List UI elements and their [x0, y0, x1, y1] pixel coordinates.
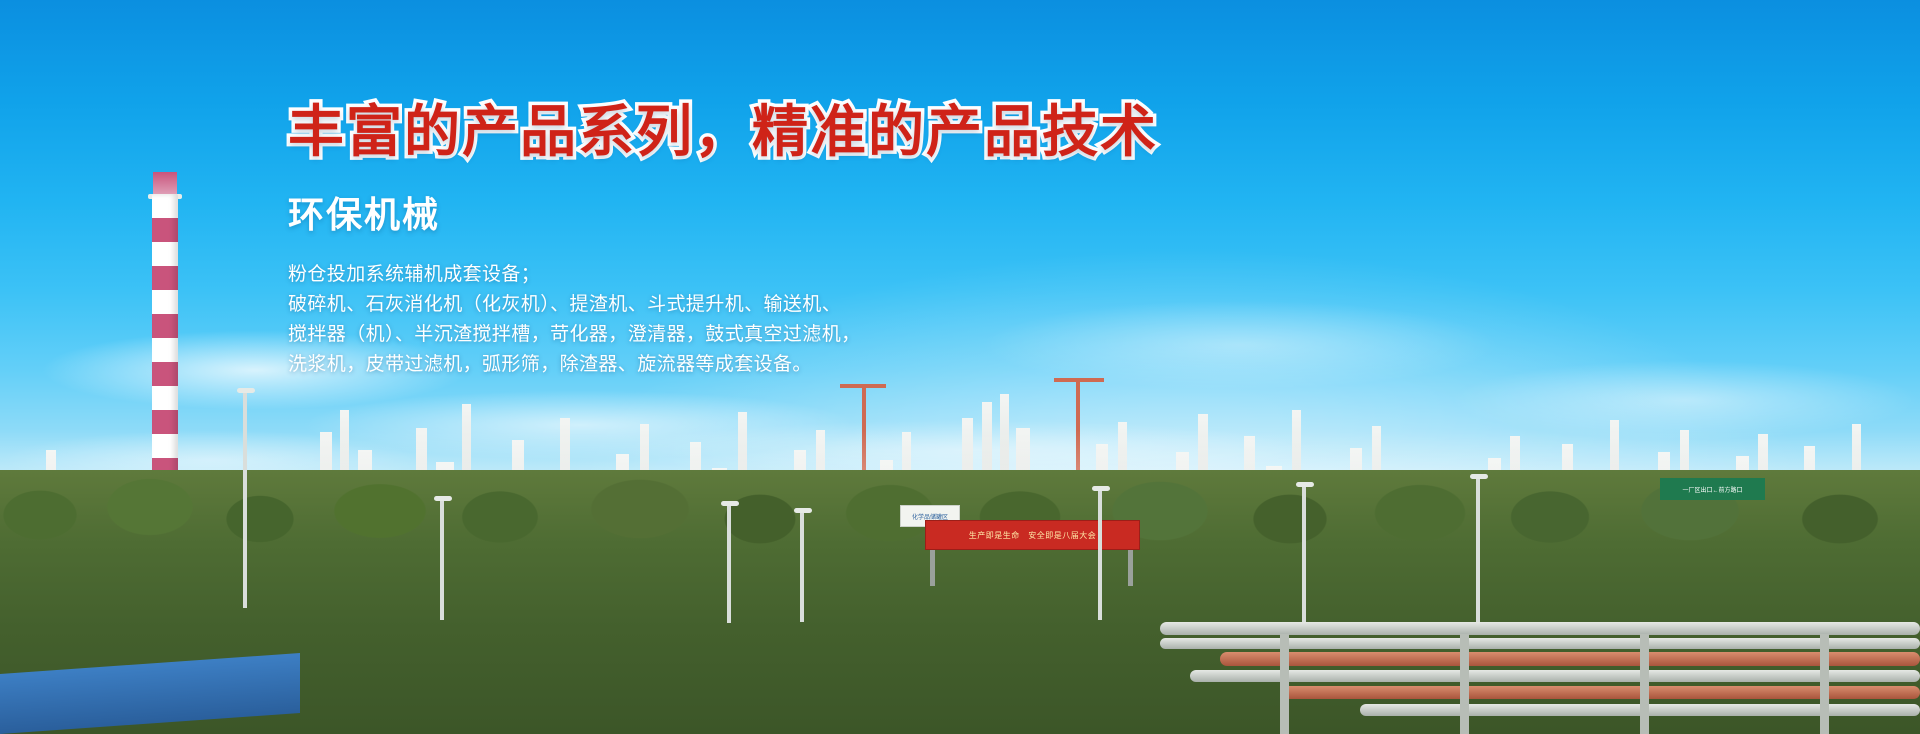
red-safety-banner: 生产即是生命 安全即是八届大会 — [925, 520, 1140, 550]
description-line-3: 搅拌器（机）、半沉渣搅拌槽，苛化器，澄清器，鼓式真空过滤机， — [288, 320, 1288, 350]
street-lamp-icon — [440, 500, 444, 620]
page-title: 丰富的产品系列，精准的产品技术 — [288, 104, 1288, 160]
product-description: 粉仓投加系统辅机成套设备； 破碎机、石灰消化机（化灰机）、提渣机、斗式提升机、输… — [288, 260, 1288, 380]
street-lamp-icon — [1098, 490, 1102, 620]
pipe-rack — [1160, 564, 1920, 734]
hero-copy-block: 丰富的产品系列，精准的产品技术 环保机械 粉仓投加系统辅机成套设备； 破碎机、石… — [288, 104, 1288, 380]
striped-smokestack-icon — [152, 172, 178, 502]
street-lamp-icon — [800, 512, 804, 622]
description-line-1: 粉仓投加系统辅机成套设备； — [288, 260, 1288, 290]
green-direction-sign: 一厂区出口←前方路口 — [1660, 478, 1765, 500]
street-lamp-icon — [727, 505, 731, 623]
description-line-4: 洗浆机，皮带过滤机，弧形筛，除渣器、旋流器等成套设备。 — [288, 350, 1288, 380]
street-lamp-icon — [243, 392, 247, 608]
sign-post — [1128, 550, 1133, 586]
page-subtitle: 环保机械 — [288, 186, 1288, 238]
sign-post — [930, 550, 935, 586]
description-line-2: 破碎机、石灰消化机（化灰机）、提渣机、斗式提升机、输送机、 — [288, 290, 1288, 320]
hero-banner: 化学品储罐区 生产即是生命 安全即是八届大会 一厂区出口←前方路口 丰富的产品系… — [0, 0, 1920, 734]
